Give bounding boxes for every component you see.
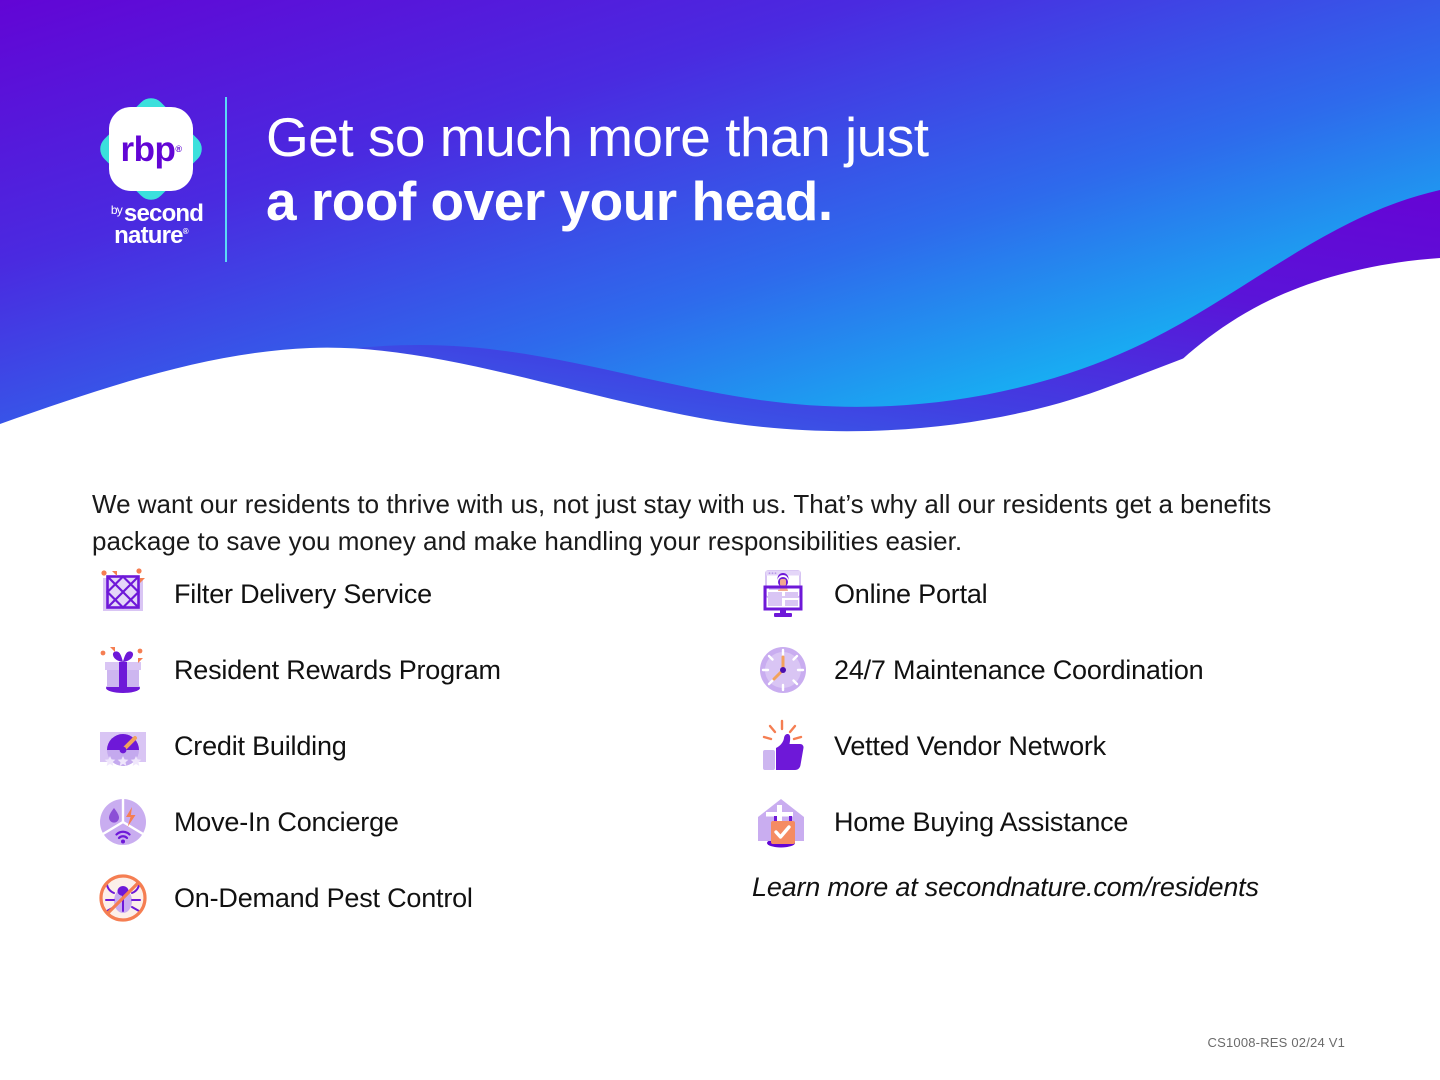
clock-icon (752, 639, 814, 701)
logo-brand-wrap: bysecond nature® (86, 203, 216, 253)
desktop-monitor-icon (752, 563, 814, 625)
no-pest-icon (92, 867, 154, 929)
benefit-item-maintenance-coordination: 24/7 Maintenance Coordination (752, 632, 1362, 708)
benefit-label: On-Demand Pest Control (174, 883, 473, 914)
rbp-logo-lockup: rbp® bysecond nature® (86, 95, 216, 253)
logo-by-word: by (111, 203, 122, 217)
intro-paragraph: We want our residents to thrive with us,… (92, 486, 1307, 560)
thumbs-up-icon (752, 715, 814, 777)
benefit-item-home-buying-assistance: Home Buying Assistance (752, 784, 1362, 860)
utilities-circle-icon (92, 791, 154, 853)
logo-rbp-text: rbp® (97, 95, 205, 203)
benefit-label: Filter Delivery Service (174, 579, 432, 610)
benefit-label: Resident Rewards Program (174, 655, 501, 686)
logo-brand-text: bysecond nature® (86, 203, 216, 247)
benefit-label: Vetted Vendor Network (834, 731, 1106, 762)
benefit-item-move-in-concierge: Move-In Concierge (92, 784, 712, 860)
benefit-label: Credit Building (174, 731, 347, 762)
benefit-item-credit-building: Credit Building (92, 708, 712, 784)
headline-line-1: Get so much more than just (266, 108, 929, 166)
benefit-label: Move-In Concierge (174, 807, 399, 838)
benefit-label: 24/7 Maintenance Coordination (834, 655, 1203, 686)
credit-gauge-icon (92, 715, 154, 777)
benefit-item-resident-rewards-program: Resident Rewards Program (92, 632, 712, 708)
gift-box-icon (92, 639, 154, 701)
rbp-logo-mark: rbp® (97, 95, 205, 203)
logo-nature-word: nature (114, 222, 183, 249)
benefits-left-column: Filter Delivery Service Resident Rewards (92, 556, 712, 936)
logo-registered-mark: ® (175, 145, 181, 154)
benefit-item-online-portal: Online Portal (752, 556, 1362, 632)
document-code: CS1008-RES 02/24 V1 (1208, 1035, 1346, 1050)
headline-line-2: a roof over your head. (266, 172, 929, 230)
benefits-right-column: Online Portal (752, 556, 1362, 860)
logo-rbp-word: rbp (120, 132, 175, 167)
logo-brand-registered-mark: ® (183, 227, 188, 236)
benefit-item-vetted-vendor-network: Vetted Vendor Network (752, 708, 1362, 784)
air-filter-icon (92, 563, 154, 625)
benefit-label: Online Portal (834, 579, 987, 610)
logo-brand-line2: nature® (86, 225, 216, 247)
vertical-divider (225, 97, 227, 262)
hero-banner: rbp® bysecond nature® Get so much more t… (0, 0, 1440, 440)
benefit-label: Home Buying Assistance (834, 807, 1128, 838)
learn-more-text[interactable]: Learn more at secondnature.com/residents (752, 872, 1259, 903)
benefit-item-on-demand-pest-control: On-Demand Pest Control (92, 860, 712, 936)
benefit-item-filter-delivery-service: Filter Delivery Service (92, 556, 712, 632)
home-sign-icon (752, 791, 814, 853)
hero-headline: Get so much more than just a roof over y… (266, 108, 929, 231)
